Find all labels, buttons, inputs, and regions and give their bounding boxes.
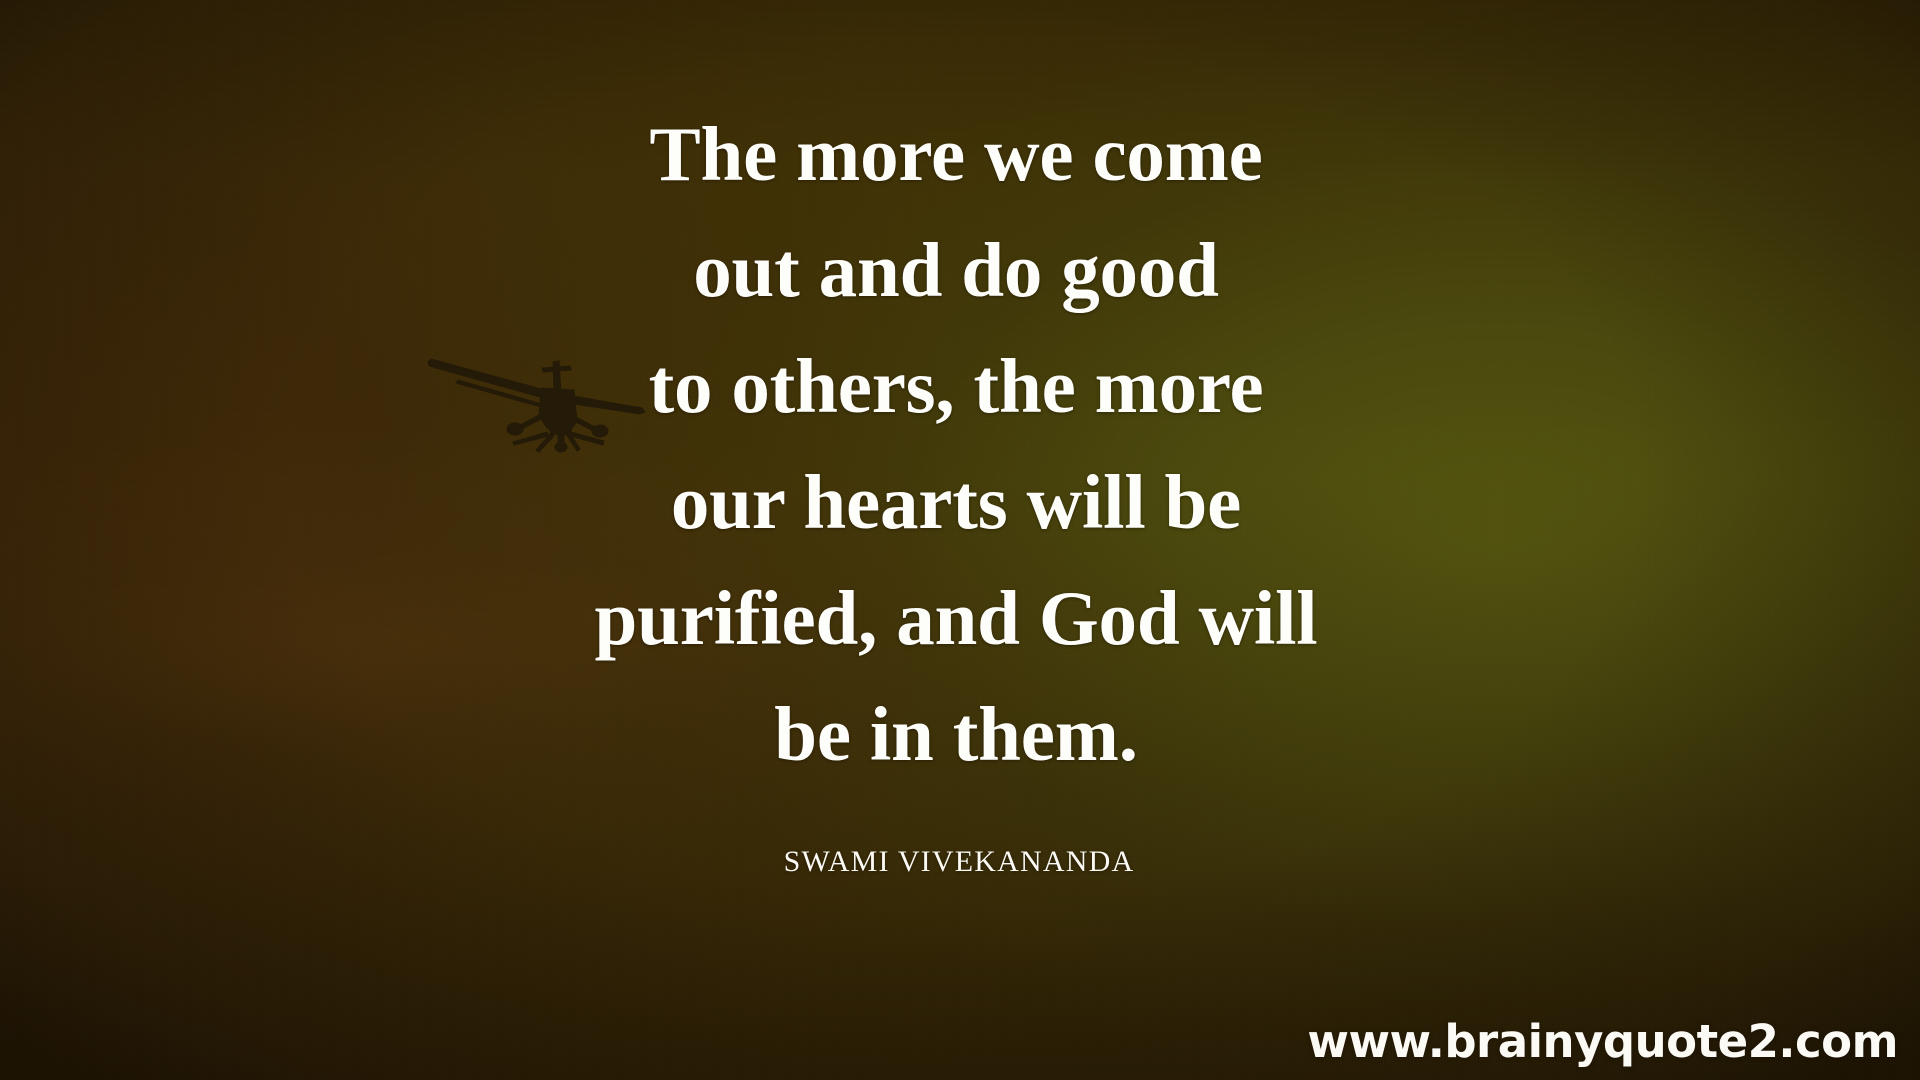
quote-line: The more we come [0, 96, 1912, 212]
quote-line: out and do good [0, 212, 1912, 328]
quote-line: purified, and God will [0, 560, 1912, 676]
quote-text: The more we come out and do good to othe… [0, 96, 1912, 792]
quote-line: to others, the more [0, 328, 1912, 444]
website-watermark: www.brainyquote2.com [1307, 1015, 1898, 1068]
quote-image-canvas: The more we come out and do good to othe… [0, 0, 1920, 1080]
quote-line: be in them. [0, 676, 1912, 792]
quote-line: our hearts will be [0, 444, 1912, 560]
quote-author: SWAMI VIVEKANANDA [0, 845, 1918, 879]
